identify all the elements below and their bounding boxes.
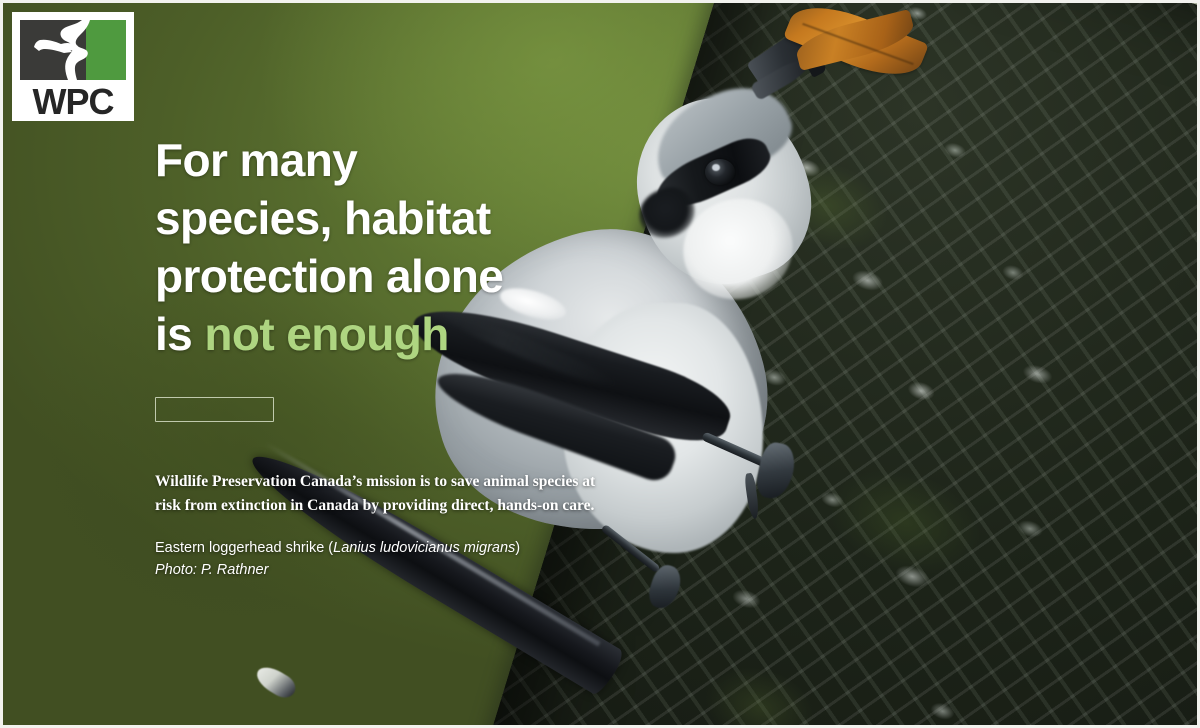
hero-content: For manyspecies, habitatprotection alone…: [155, 131, 715, 581]
mission-statement: Wildlife Preservation Canada’s mission i…: [155, 470, 605, 518]
hero-banner: WPC For manyspecies, habitatprotection a…: [0, 0, 1200, 728]
bird-tail-tip: [252, 662, 299, 702]
hero-cta-button[interactable]: [155, 397, 274, 422]
headline-line-2: species, habitat: [155, 192, 491, 244]
headline-line-4-prefix: is: [155, 308, 204, 360]
hero-headline: For manyspecies, habitatprotection alone…: [155, 131, 555, 363]
headline-accent: not enough: [204, 308, 448, 360]
caption-common-name: Eastern loggerhead shrike (: [155, 540, 333, 556]
wpc-logo-face-bird-icon: [20, 20, 126, 80]
caption-scientific-name: Lanius ludovicianus migrans: [333, 540, 515, 556]
headline-line-3: protection alone: [155, 250, 503, 302]
photo-caption: Eastern loggerhead shrike (Lanius ludovi…: [155, 537, 715, 559]
wpc-logo[interactable]: WPC: [12, 12, 134, 121]
caption-close-paren: ): [515, 540, 520, 556]
wpc-logo-mark: [20, 20, 126, 80]
headline-line-1: For many: [155, 134, 357, 186]
photo-credit: Photo: P. Rathner: [155, 559, 715, 581]
wpc-logo-text: WPC: [20, 82, 126, 122]
